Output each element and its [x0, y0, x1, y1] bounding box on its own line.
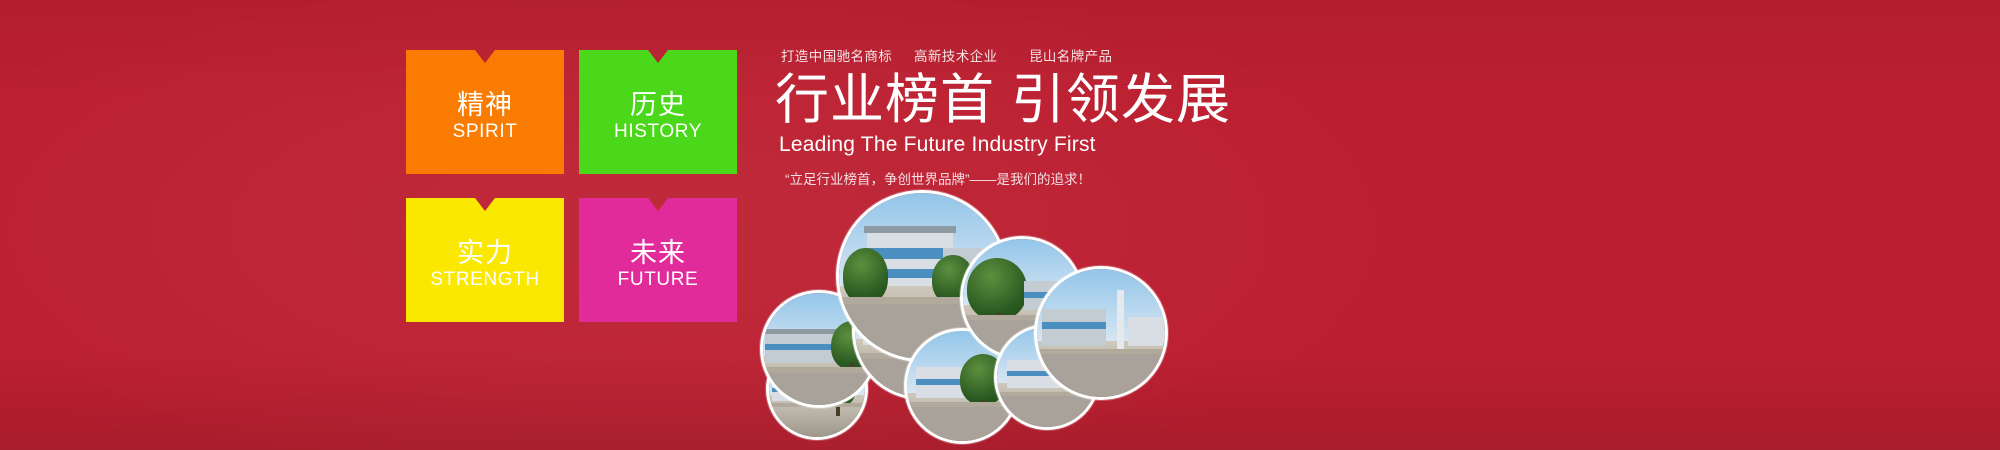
- subheadline: Leading The Future Industry First: [775, 132, 1195, 158]
- headline-part-2: 引领发展: [1011, 70, 1231, 130]
- tagline-2: 高新技术企业: [914, 48, 1029, 66]
- promo-banner: 精神 SPIRIT 历史 HISTORY 实力 STRENGTH 未来 FUTU…: [0, 0, 2000, 450]
- tile-future-en: FUTURE: [579, 268, 737, 292]
- photo-cluster: [748, 186, 1168, 450]
- tile-strength-en: STRENGTH: [406, 268, 564, 292]
- tile-history-cn: 历史: [579, 90, 737, 120]
- tile-future-cn: 未来: [579, 238, 737, 268]
- tile-future[interactable]: 未来 FUTURE: [579, 198, 737, 322]
- headline: 行业榜首引领发展: [775, 70, 1195, 130]
- tile-spirit[interactable]: 精神 SPIRIT: [406, 50, 564, 174]
- tagline-3: 昆山名牌产品: [1029, 48, 1112, 66]
- tile-history[interactable]: 历史 HISTORY: [579, 50, 737, 174]
- tile-strength[interactable]: 实力 STRENGTH: [406, 198, 564, 322]
- tagline-1: 打造中国驰名商标: [781, 48, 914, 66]
- tile-history-en: HISTORY: [579, 120, 737, 144]
- tagline-row: 打造中国驰名商标 高新技术企业 昆山名牌产品: [775, 48, 1195, 66]
- value-tiles: 精神 SPIRIT 历史 HISTORY 实力 STRENGTH 未来 FUTU…: [406, 50, 736, 322]
- tile-spirit-en: SPIRIT: [406, 120, 564, 144]
- tile-strength-cn: 实力: [406, 238, 564, 268]
- headline-part-1: 行业榜首: [775, 70, 995, 130]
- photo-blob-right: [1034, 266, 1168, 400]
- tile-spirit-cn: 精神: [406, 90, 564, 120]
- headline-block: 打造中国驰名商标 高新技术企业 昆山名牌产品 行业榜首引领发展 Leading …: [775, 48, 1195, 190]
